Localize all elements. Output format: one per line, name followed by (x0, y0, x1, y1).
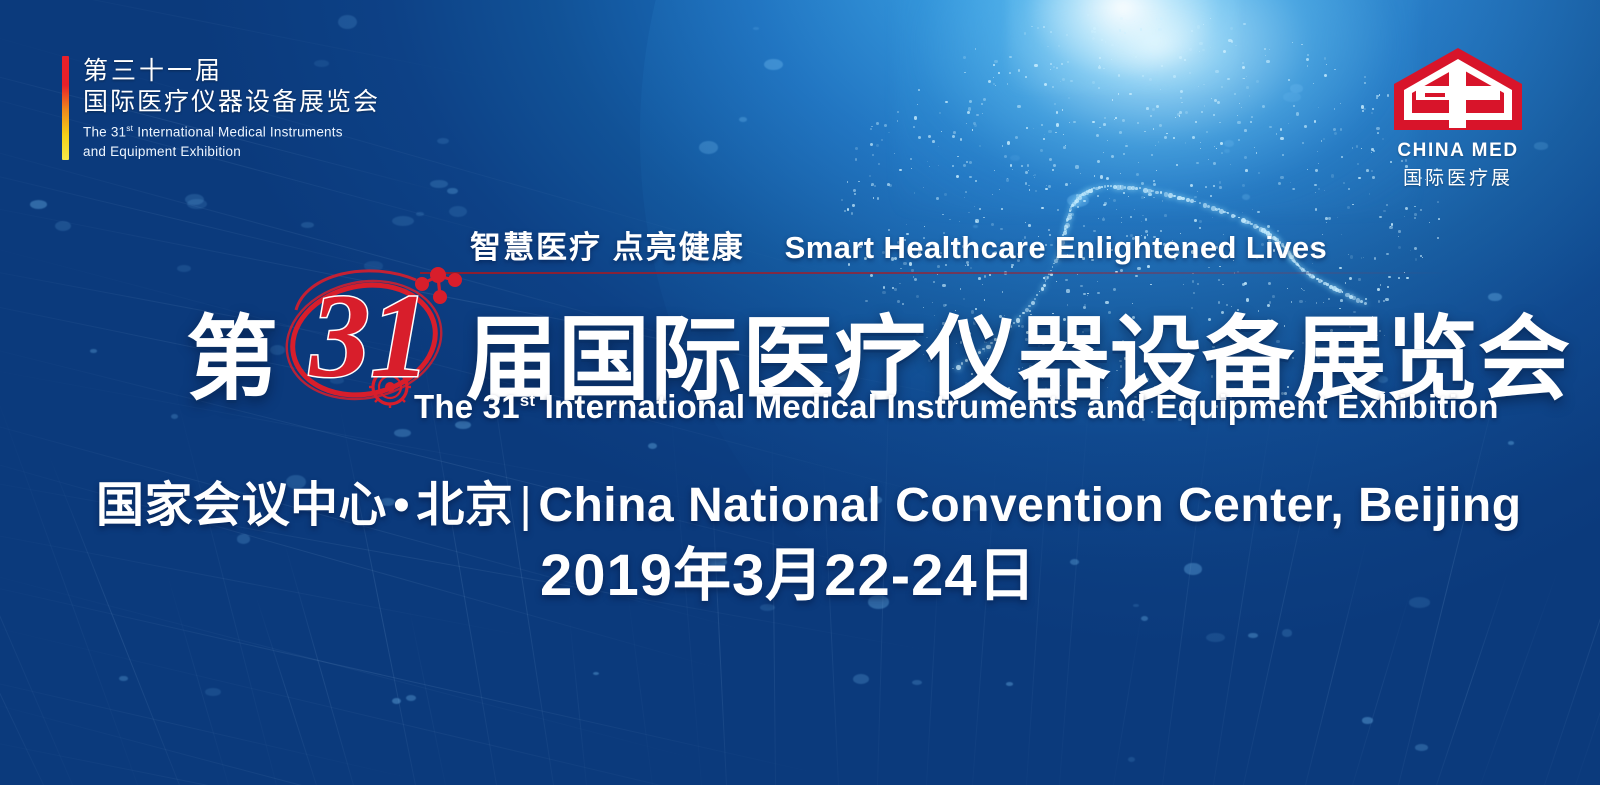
tagline-red-rule (420, 272, 1450, 274)
venue-city-cn: 北京 (416, 479, 513, 532)
brand-lockup: 第三十一届 国际医疗仪器设备展览会 The 31st International… (62, 56, 380, 162)
china-med-logo: CHINA MED 国际医疗展 (1388, 46, 1528, 190)
tagline: 智慧医疗 点亮健康 Smart Healthcare Enlightened L… (470, 222, 1327, 267)
brand-cn-line1: 第三十一届 (83, 56, 380, 87)
china-med-wordmark: CHINA MED (1388, 140, 1528, 162)
subtitle-sup: st (520, 391, 536, 410)
tagline-cn: 智慧医疗 点亮健康 (470, 222, 745, 267)
banner-poster: 第三十一届 国际医疗仪器设备展览会 The 31st International… (0, 0, 1600, 785)
venue-divider: | (513, 479, 538, 532)
brand-en-pre: The 31 (83, 125, 126, 140)
title-prefix-cn: 第 (186, 316, 278, 404)
svg-text:31: 31 (309, 269, 430, 402)
brand-en-block: The 31st International Medical Instrumen… (83, 122, 380, 162)
brand-cn-line2: 国际医疗仪器设备展览会 (83, 87, 380, 118)
subtitle-post: International Medical Instruments and Eq… (535, 388, 1498, 425)
venue-bullet: • (387, 479, 416, 532)
china-med-cn-name: 国际医疗展 (1388, 163, 1528, 190)
edition-31-svg: 31 (272, 258, 468, 408)
tagline-en: Smart Healthcare Enlightened Lives (785, 230, 1328, 266)
venue-line: 国家会议中心•北京|China National Convention Cent… (96, 465, 1522, 535)
main-subtitle-en: The 31st International Medical Instrumen… (414, 388, 1499, 426)
brand-en-line2: and Equipment Exhibition (83, 144, 241, 159)
pavilion-cross-icon (1392, 46, 1524, 132)
venue-en: China National Convention Center, Beijin… (538, 479, 1521, 532)
event-date: 2019年3月22-24日 (540, 528, 1037, 612)
gradient-accent-bar (62, 56, 69, 160)
subtitle-pre: The (414, 388, 483, 425)
edition-number-31-artwork: 31 (272, 258, 468, 408)
subtitle-number: 31 (483, 388, 520, 425)
brand-en-post: International Medical Instruments (133, 125, 342, 140)
venue-cn: 国家会议中心 (96, 479, 387, 532)
